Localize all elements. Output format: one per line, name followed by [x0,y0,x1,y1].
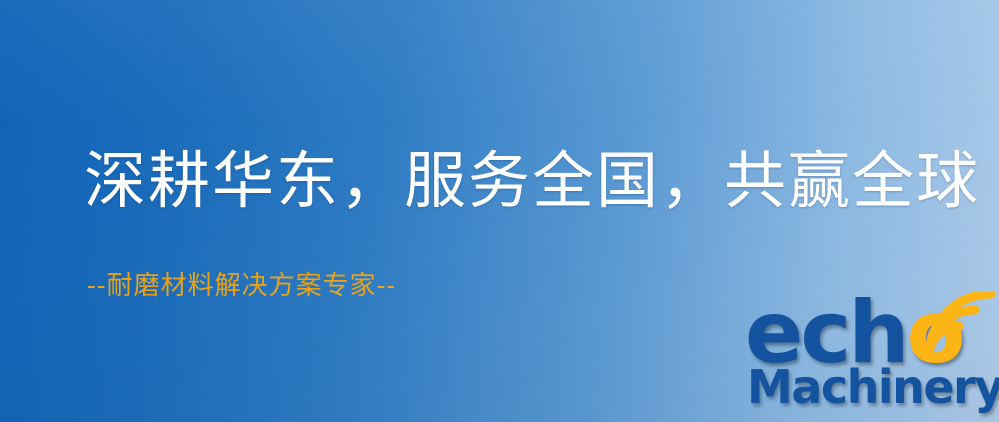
echo-machinery-logo[interactable]: echo Machinery® [745,296,999,422]
page-title: 深耕华东，服务全国，共赢全球 [84,148,980,213]
signal-waves-icon [921,292,999,364]
hero-banner: 深耕华东，服务全国，共赢全球 --耐磨材料解决方案专家-- echo Machi… [0,0,999,422]
page-subtitle: --耐磨材料解决方案专家-- [87,265,396,302]
logo-tagline: Machinery® [747,364,999,410]
logo-tagline-text: Machinery [747,360,999,414]
